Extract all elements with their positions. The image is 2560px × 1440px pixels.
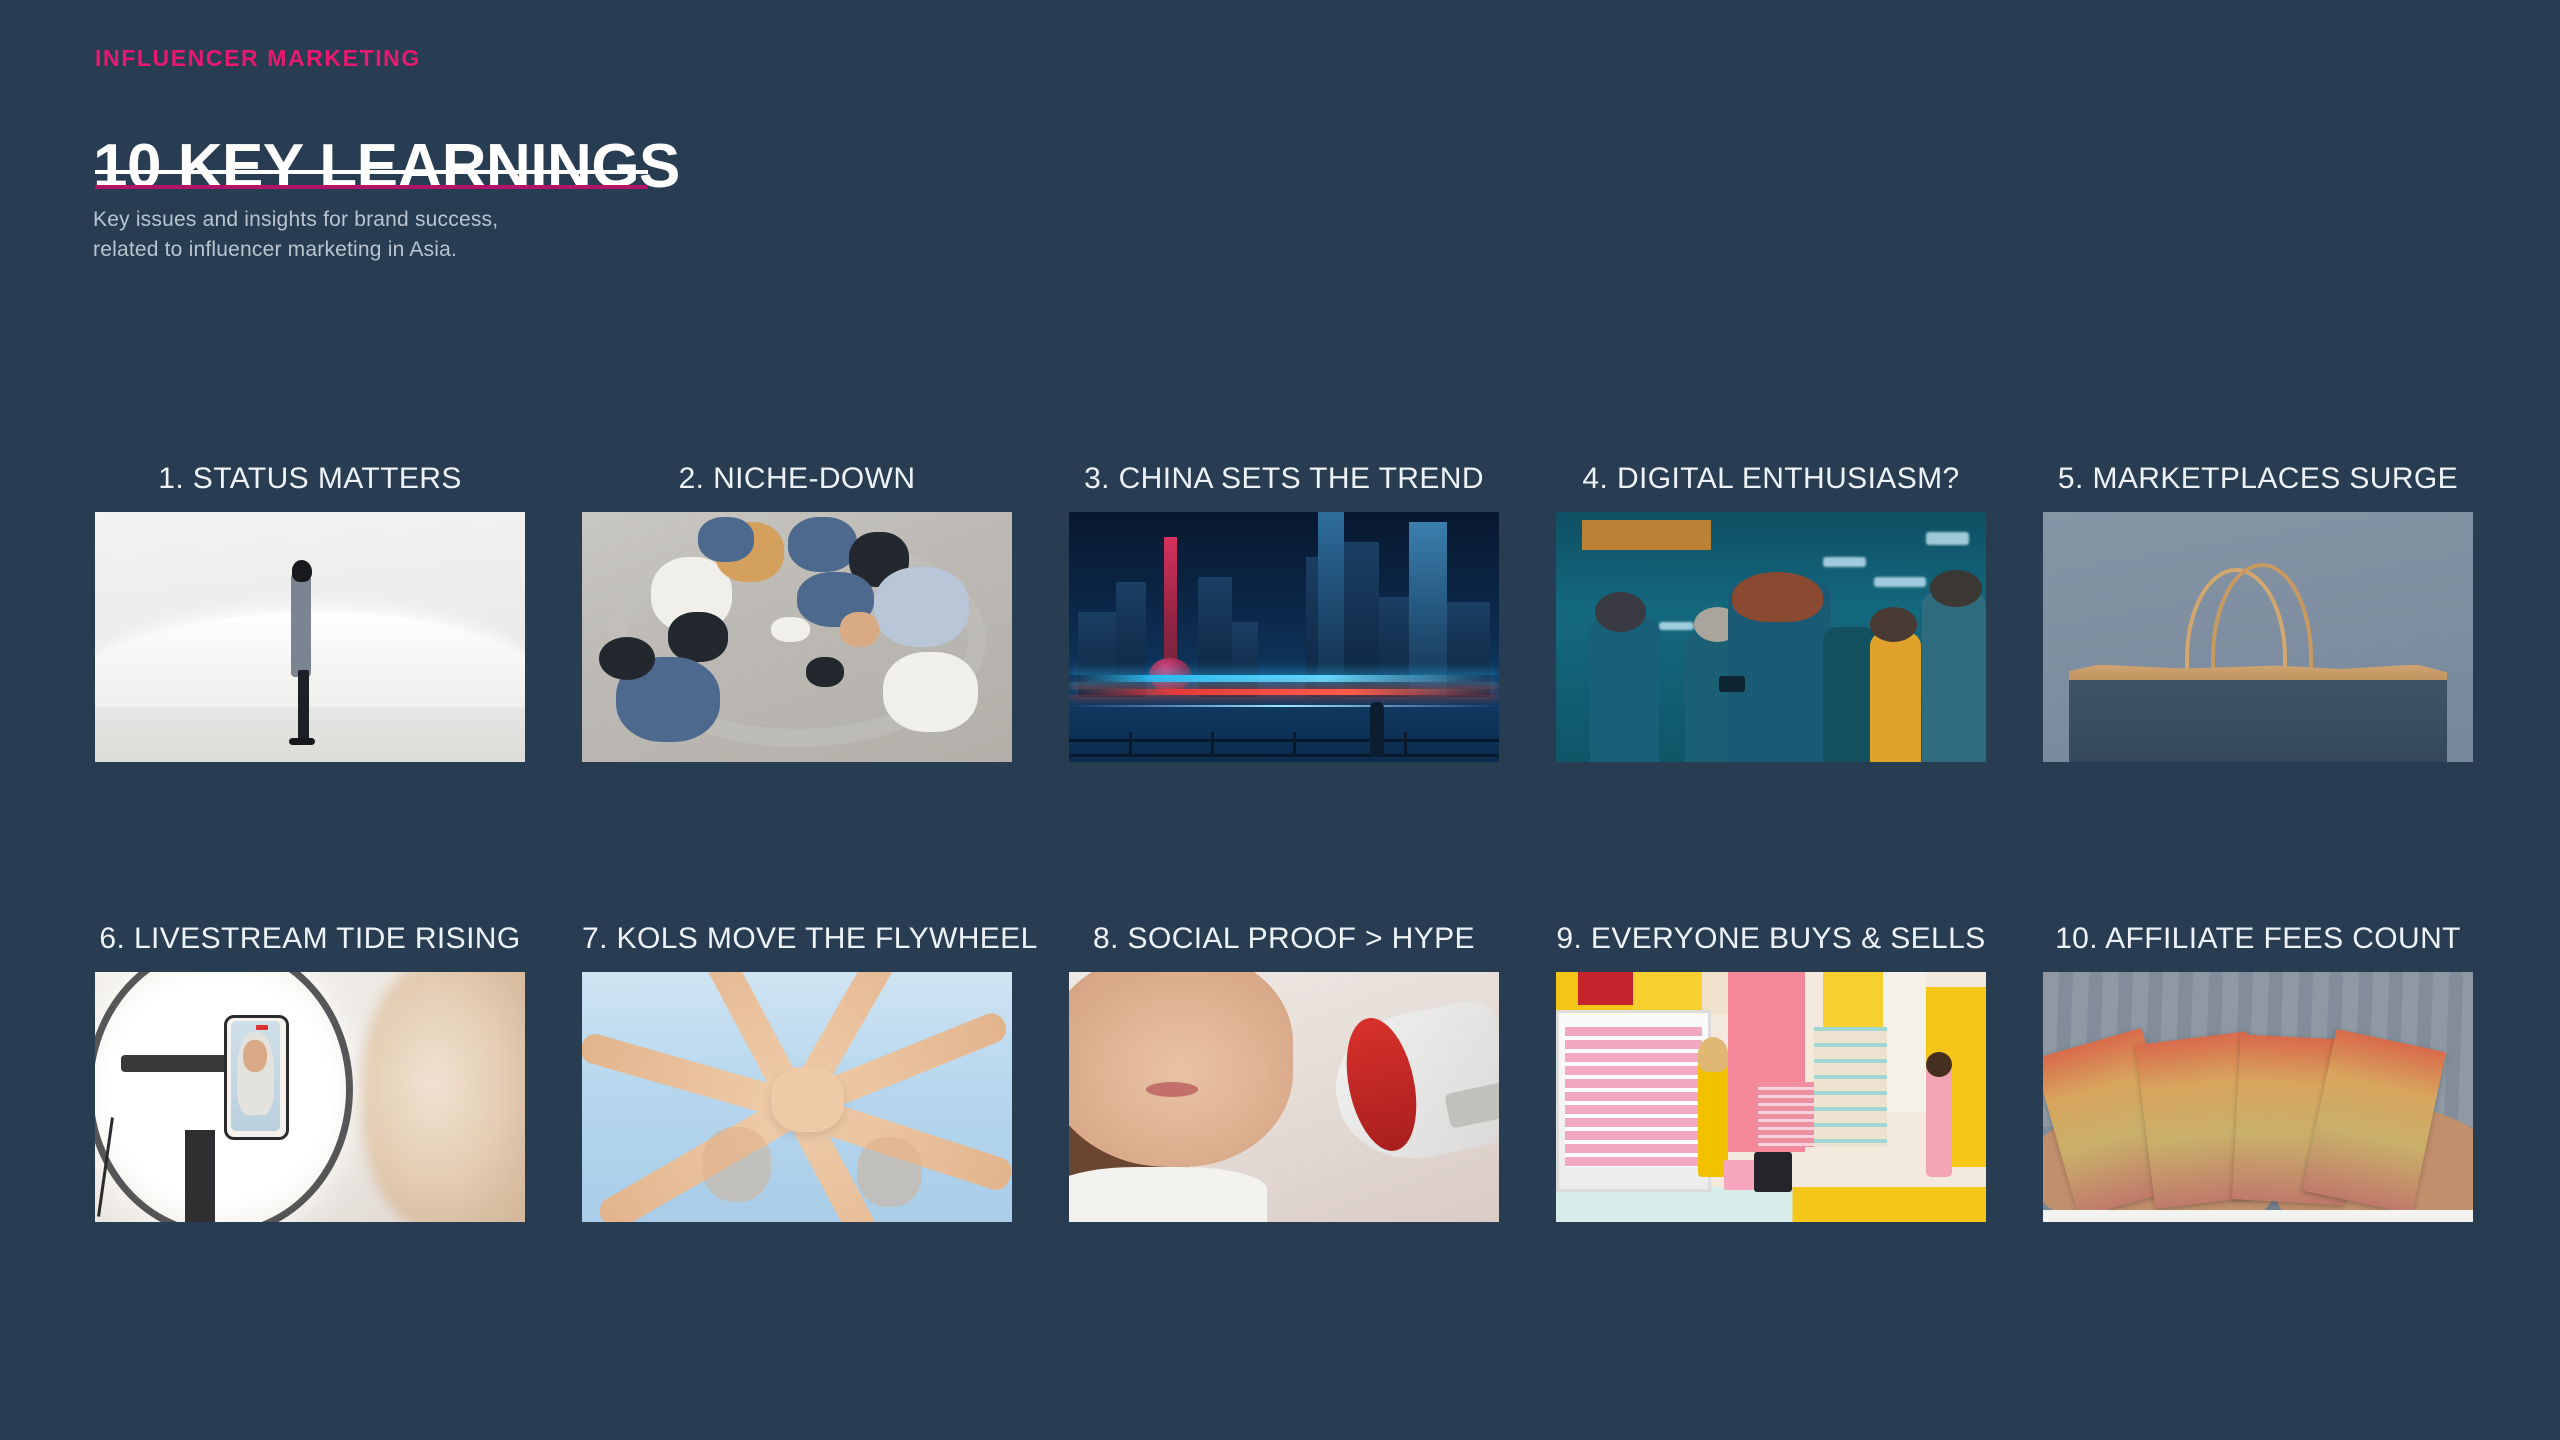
card-title-2: 2. NICHE-DOWN	[582, 462, 1012, 496]
learning-card-6[interactable]: 6. LIVESTREAM TIDE RISING	[95, 972, 525, 1222]
card-title-9: 9. EVERYONE BUYS & SELLS	[1556, 922, 1986, 956]
shanghai-skyline-night-photo	[1069, 512, 1499, 762]
person-standing-white-space-photo	[95, 512, 525, 762]
card-title-6: 6. LIVESTREAM TIDE RISING	[95, 922, 525, 956]
learning-card-10[interactable]: 10. AFFILIATE FEES COUNT	[2043, 972, 2473, 1222]
ring-light-phone-livestream-photo	[95, 972, 525, 1222]
card-title-1: 1. STATUS MATTERS	[95, 462, 525, 496]
card-image-1	[95, 512, 525, 762]
teens-sitting-circle-photo	[582, 512, 1012, 762]
card-image-9	[1556, 972, 1986, 1222]
card-image-2	[582, 512, 1012, 762]
card-image-8	[1069, 972, 1499, 1222]
learning-card-5[interactable]: 5. MARKETPLACES SURGE	[2043, 512, 2473, 762]
learnings-grid: 1. STATUS MATTERS 2. NICHE-DOWN	[0, 0, 2560, 1440]
learning-card-1[interactable]: 1. STATUS MATTERS	[95, 512, 525, 762]
card-title-7: 7. KOLS MOVE THE FLYWHEEL	[582, 922, 1012, 956]
card-title-4: 4. DIGITAL ENTHUSIASM?	[1556, 462, 1986, 496]
learning-card-9[interactable]: 9. EVERYONE BUYS & SELLS	[1556, 972, 1986, 1222]
card-title-5: 5. MARKETPLACES SURGE	[2043, 462, 2473, 496]
card-image-4	[1556, 512, 1986, 762]
learning-card-2[interactable]: 2. NICHE-DOWN	[582, 512, 1012, 762]
card-image-5	[2043, 512, 2473, 762]
learning-card-4[interactable]: 4. DIGITAL ENTHUSIASM?	[1556, 512, 1986, 762]
card-title-8: 8. SOCIAL PROOF > HYPE	[1069, 922, 1499, 956]
learning-card-8[interactable]: 8. SOCIAL PROOF > HYPE	[1069, 972, 1499, 1222]
commuters-on-phones-photo	[1556, 512, 1986, 762]
card-image-7	[582, 972, 1012, 1222]
card-image-10	[2043, 972, 2473, 1222]
card-title-10: 10. AFFILIATE FEES COUNT	[2043, 922, 2473, 956]
colorful-retail-store-photo	[1556, 972, 1986, 1222]
hands-holding-banknotes-photo	[2043, 972, 2473, 1222]
learning-card-7[interactable]: 7. KOLS MOVE THE FLYWHEEL	[582, 972, 1012, 1222]
woman-with-megaphone-photo	[1069, 972, 1499, 1222]
learning-card-3[interactable]: 3. CHINA SETS THE TREND	[1069, 512, 1499, 762]
card-image-3	[1069, 512, 1499, 762]
hands-joined-circle-photo	[582, 972, 1012, 1222]
paper-shopping-bag-photo	[2043, 512, 2473, 762]
card-image-6	[95, 972, 525, 1222]
card-title-3: 3. CHINA SETS THE TREND	[1069, 462, 1499, 496]
